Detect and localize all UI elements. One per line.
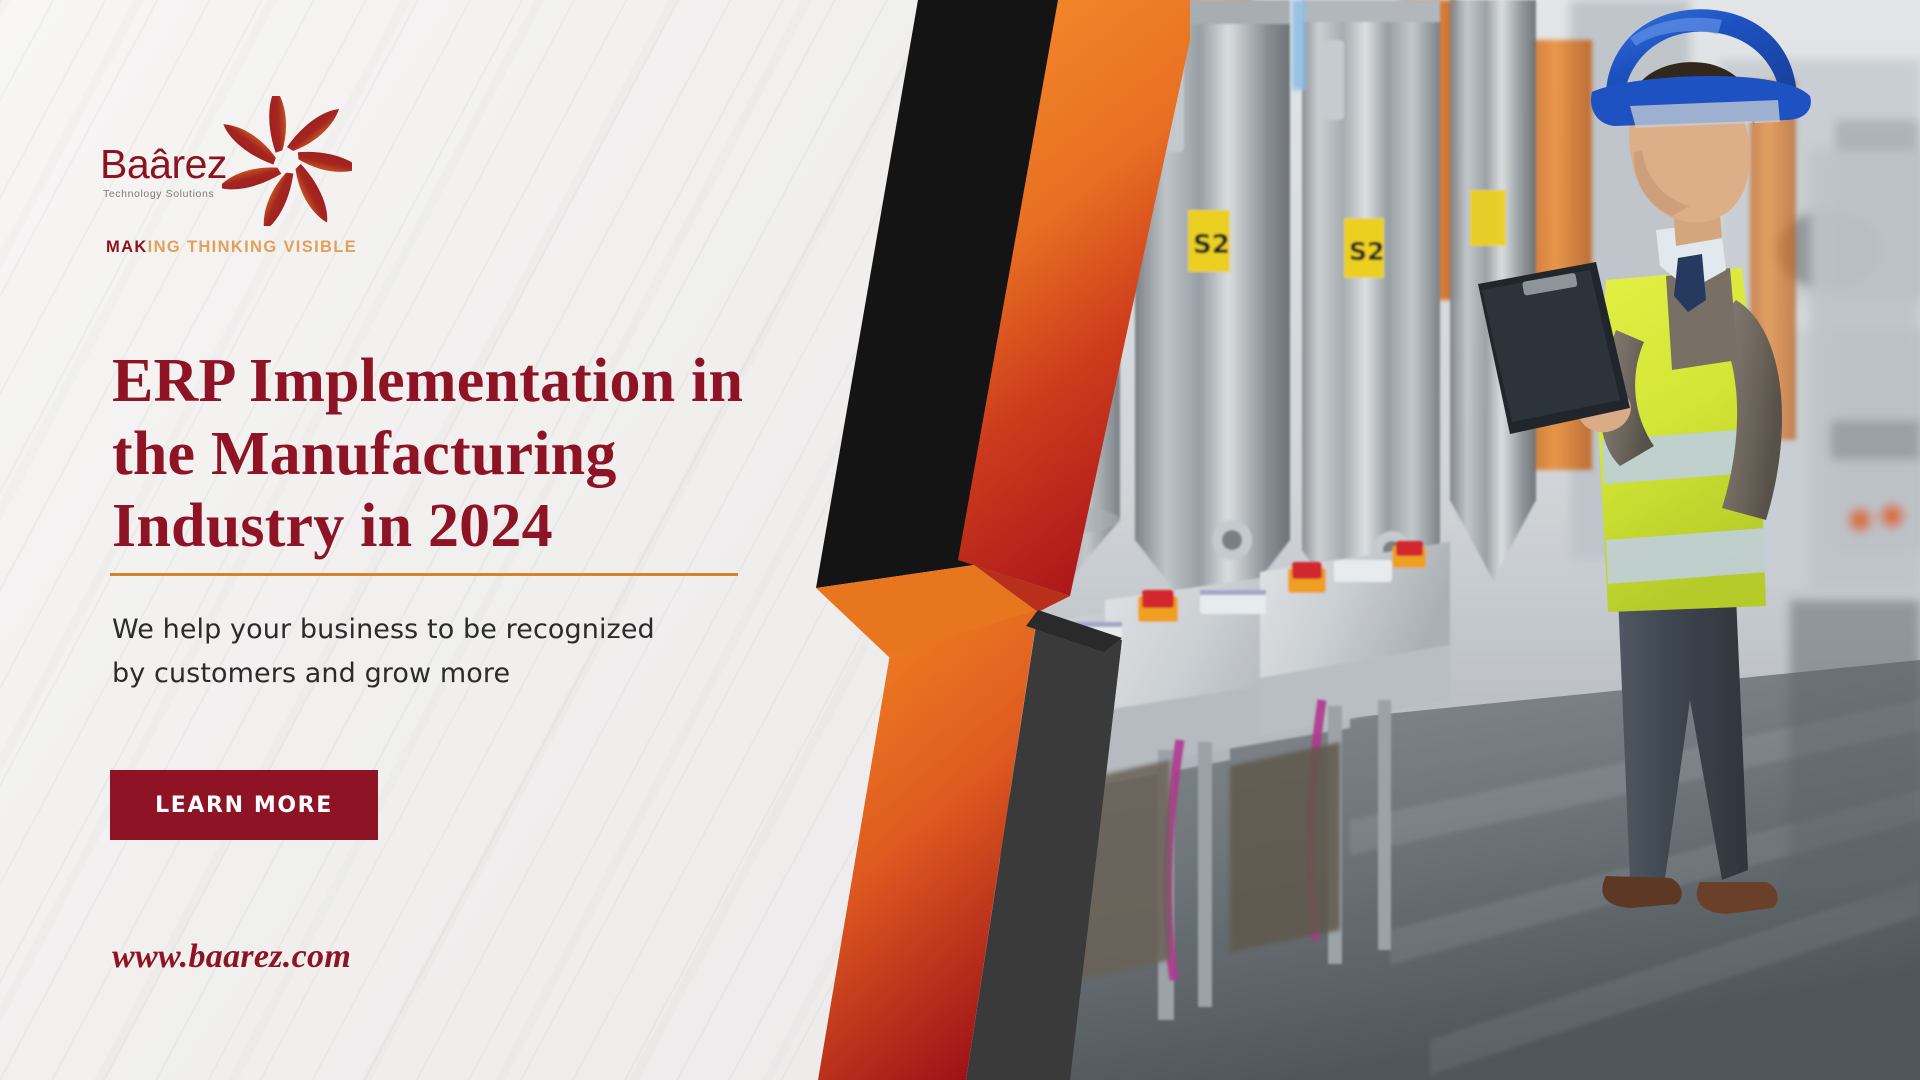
headline-line-1: ERP Implementation in [112, 345, 812, 418]
subtitle-text: We help your business to be recognized b… [112, 608, 752, 695]
logo-tagline: MAKING THINKING VISIBLE [106, 238, 357, 257]
accent-divider-rule [110, 573, 738, 576]
factory-photo: S2 S2 S2 [930, 0, 1920, 1080]
logo-subtitle: Technology Solutions [103, 188, 214, 200]
learn-more-button[interactable]: LEARN MORE [110, 770, 378, 840]
company-logo[interactable]: Baârez Technology Solutions MAKING THINK… [100, 96, 430, 271]
learn-more-label: LEARN MORE [155, 793, 333, 818]
page-title: ERP Implementation in the Manufacturing … [112, 345, 812, 563]
marketing-banner: S2 S2 S2 [0, 0, 1920, 1080]
headline-line-2: the Manufacturing [112, 418, 812, 491]
subtitle-line-2: by customers and grow more [112, 652, 752, 696]
website-url[interactable]: www.baarez.com [112, 938, 351, 976]
logo-wordmark: Baârez [100, 144, 227, 185]
sunburst-logo-icon [222, 96, 352, 226]
subtitle-line-1: We help your business to be recognized [112, 608, 752, 652]
headline-line-3: Industry in 2024 [112, 490, 812, 563]
tagline-rest: ING THINKING VISIBLE [148, 238, 357, 256]
tagline-highlight: MAK [106, 238, 148, 256]
